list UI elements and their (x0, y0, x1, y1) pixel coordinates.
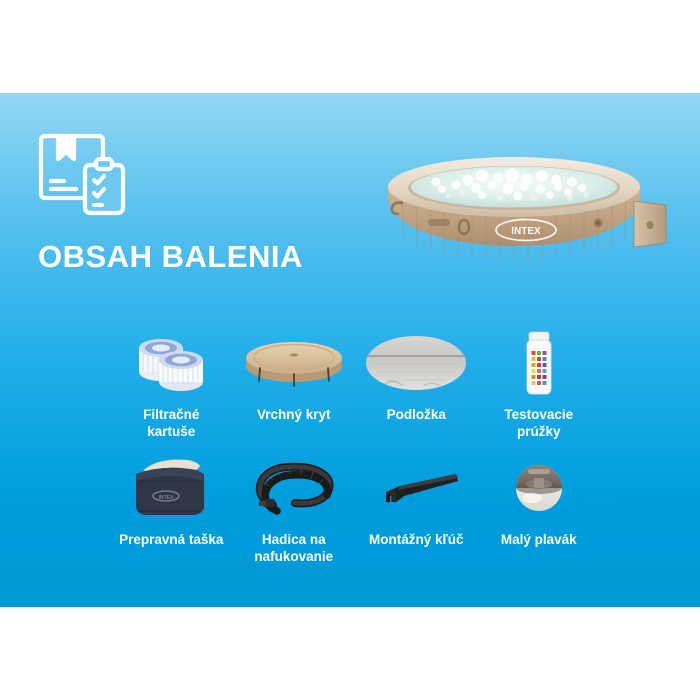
small-floater-icon (485, 454, 593, 522)
inflatable-hot-tub-illustration: INTEX (372, 151, 672, 281)
item-inflation-hose: Hadica na nafukovanie (233, 454, 356, 579)
item-label: Filtračné kartuše (117, 406, 225, 441)
filter-cartridges-icon (117, 329, 225, 397)
item-assembly-wrench: Montážný kľúč (355, 454, 478, 579)
inflation-hose-icon (240, 454, 348, 522)
header-block: OBSAH BALENIA (38, 133, 368, 272)
item-label: Podložka (387, 406, 446, 423)
item-top-cover: Vrchný kryt (233, 329, 356, 454)
item-test-strips: Testovacie prúžky (478, 329, 601, 454)
hot-tub-brand-label: INTEX (511, 226, 541, 237)
svg-text:INTEX: INTEX (159, 495, 174, 501)
item-carry-bag: INTEX Prepravná taška (110, 454, 233, 579)
package-contents-grid: Filtračné kartuše (110, 329, 600, 579)
hot-tub-hero-image: INTEX (372, 151, 672, 281)
carry-bag-icon: INTEX (117, 454, 225, 522)
item-filter-cartridges: Filtračné kartuše (110, 329, 233, 454)
item-label: Prepravná taška (119, 531, 223, 548)
item-label: Montážný kľúč (369, 531, 463, 548)
page-title: OBSAH BALENIA (38, 241, 368, 272)
item-label: Hadica na nafukovanie (240, 531, 348, 566)
package-checklist-icon (38, 133, 130, 217)
item-label: Malý plavák (501, 531, 577, 548)
package-contents-banner: OBSAH BALENIA (0, 0, 700, 700)
assembly-wrench-icon (362, 454, 470, 522)
item-ground-cloth: Podložka (355, 329, 478, 454)
item-small-floater: Malý plavák (478, 454, 601, 579)
item-label: Testovacie prúžky (485, 406, 593, 441)
blue-gradient-panel: OBSAH BALENIA (0, 93, 700, 607)
test-strips-icon (485, 329, 593, 397)
top-cover-icon (240, 329, 348, 397)
ground-cloth-icon (362, 329, 470, 397)
item-label: Vrchný kryt (257, 406, 331, 423)
